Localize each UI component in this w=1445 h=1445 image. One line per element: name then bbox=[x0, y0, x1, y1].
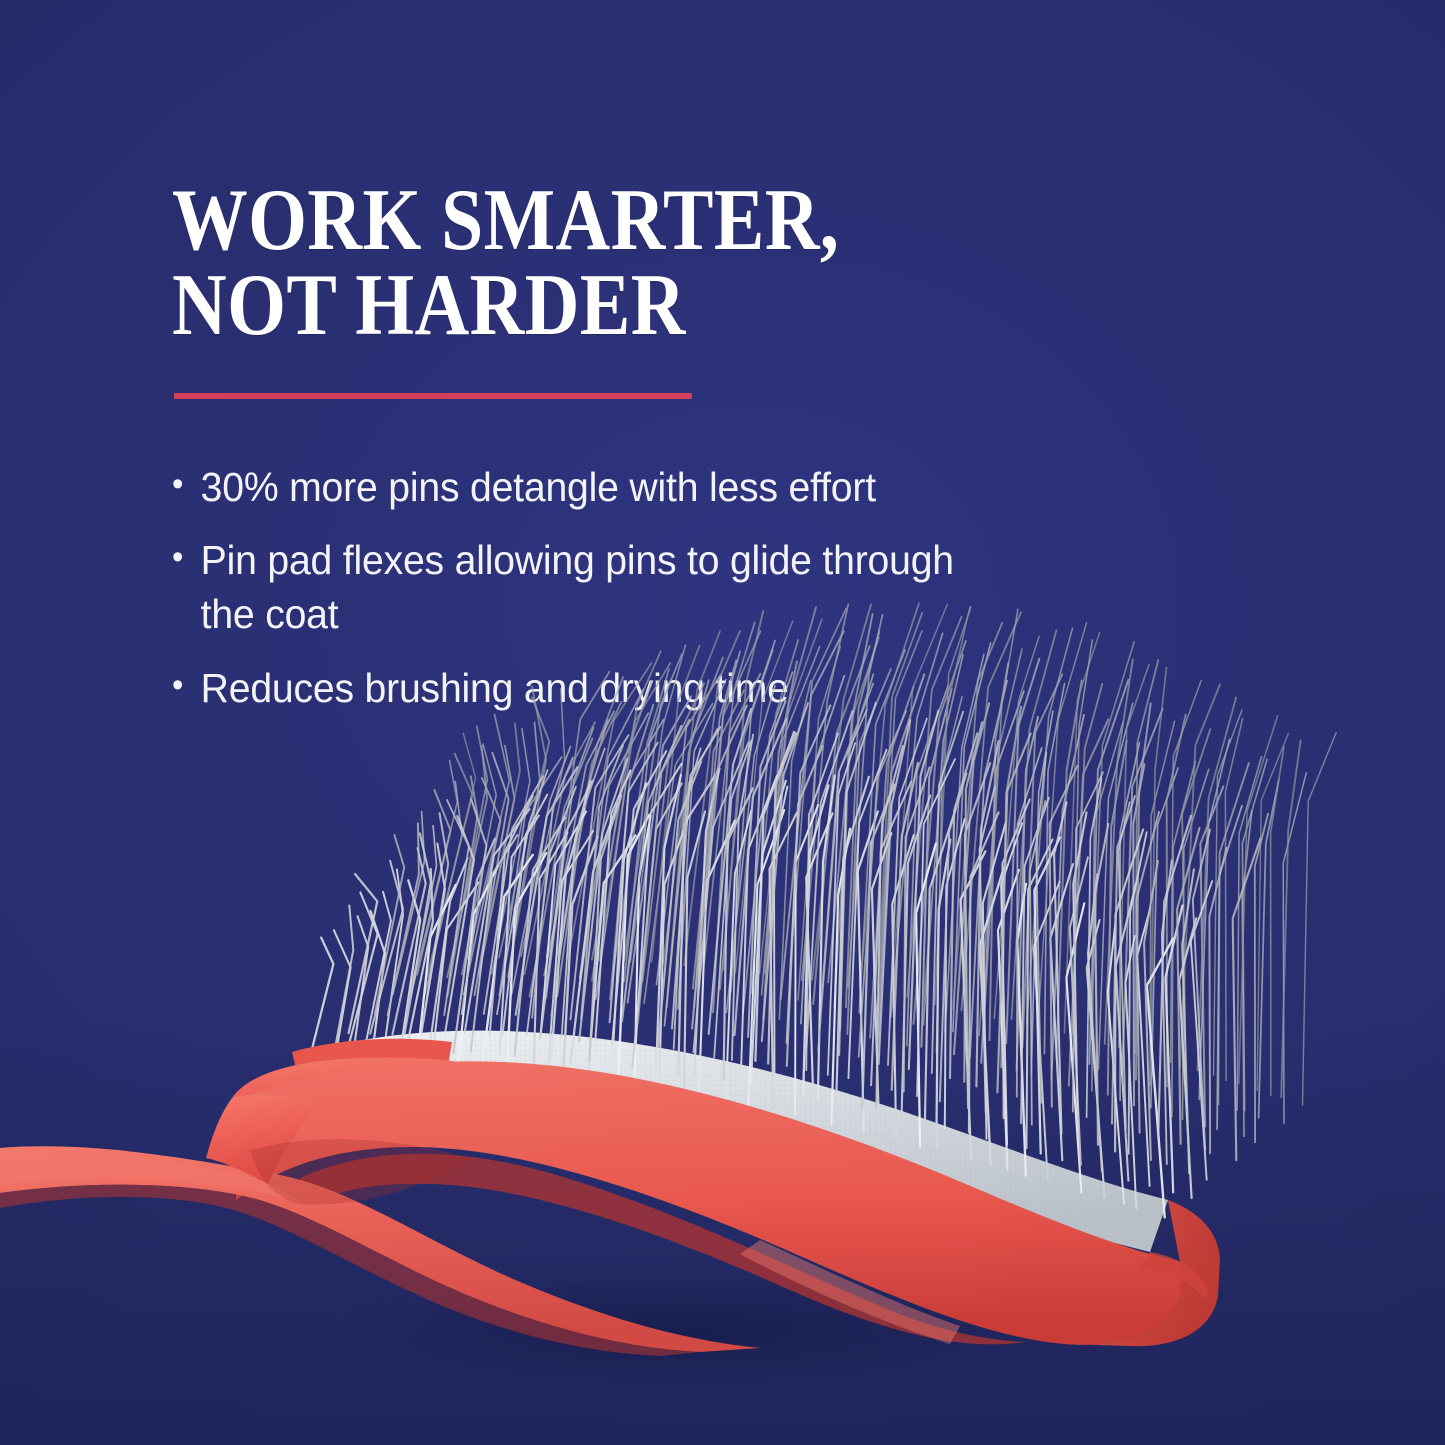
background-floor-shadow bbox=[0, 1015, 1445, 1445]
page-title: WORK SMARTER, NOT HARDER bbox=[172, 178, 998, 349]
copy-block: WORK SMARTER, NOT HARDER 30% more pins d… bbox=[172, 178, 1132, 736]
list-item: Reduces brushing and drying time bbox=[172, 662, 993, 716]
list-item: Pin pad flexes allowing pins to glide th… bbox=[172, 534, 993, 641]
list-item: 30% more pins detangle with less effort bbox=[172, 461, 993, 515]
feature-bullet-list: 30% more pins detangle with less effort … bbox=[172, 461, 1132, 716]
accent-divider bbox=[174, 393, 692, 399]
marketing-image: WORK SMARTER, NOT HARDER 30% more pins d… bbox=[0, 0, 1445, 1445]
